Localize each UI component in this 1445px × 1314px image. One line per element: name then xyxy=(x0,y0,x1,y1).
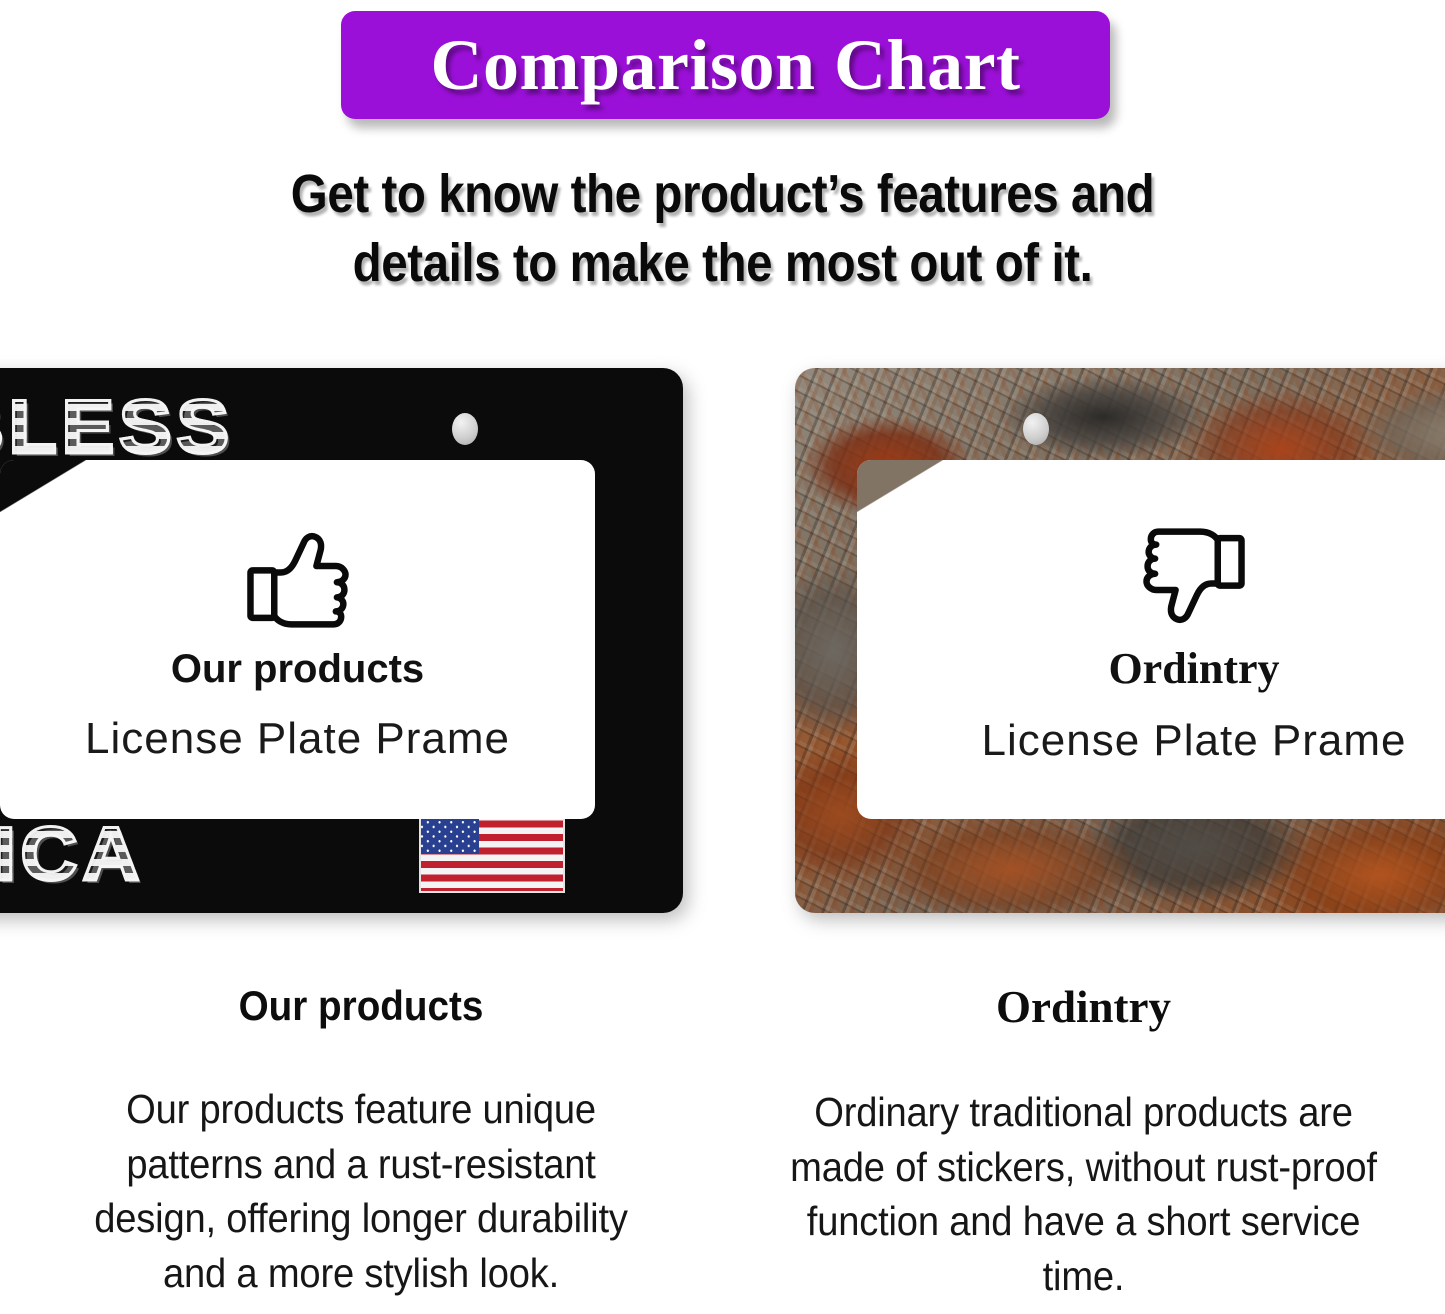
our-product-license-plate-frame: OD BLESS MERICA Our products License P xyxy=(0,368,683,913)
plate-subheading-right: License Plate Prame xyxy=(982,719,1407,763)
page-subtitle: Get to know the product’s features and d… xyxy=(87,160,1359,298)
frame-top-lettering: OD BLESS xyxy=(0,390,234,466)
column-body-our-products: Our products feature unique patterns and… xyxy=(61,1082,662,1300)
thumbs-up-icon xyxy=(244,529,352,629)
comparison-column-our-products: Our products Our products feature unique… xyxy=(0,985,722,1303)
frame-bottom-lettering: MERICA xyxy=(0,817,144,893)
plate-heading-our-products: Our products xyxy=(171,649,424,689)
mounting-hole xyxy=(452,413,478,445)
mounting-hole xyxy=(1023,413,1049,445)
page-title: Comparison Chart xyxy=(430,29,1020,101)
product-frames-area: OD BLESS MERICA Our products License P xyxy=(0,340,1445,940)
plate-heading-ordintry: Ordintry xyxy=(1108,647,1279,691)
comparison-columns: Our products Our products feature unique… xyxy=(0,985,1445,1303)
frame-black-body: OD BLESS MERICA Our products License P xyxy=(0,368,683,913)
frame-rusted-body: Ordintry License Plate Prame xyxy=(795,368,1445,913)
column-body-ordintry: Ordinary traditional products are made o… xyxy=(783,1085,1385,1303)
plate-content-left: Our products License Plate Prame xyxy=(0,460,595,819)
plate-subheading-left: License Plate Prame xyxy=(85,717,510,761)
comparison-chart-title-banner: Comparison Chart xyxy=(341,11,1110,119)
plate-content-right: Ordintry License Plate Prame xyxy=(857,460,1445,819)
thumbs-down-icon xyxy=(1140,527,1248,627)
license-plate-window-right: Ordintry License Plate Prame xyxy=(857,460,1445,819)
license-plate-window-left: Our products License Plate Prame xyxy=(0,460,595,819)
subtitle-line-1: Get to know the product’s features and xyxy=(87,160,1359,229)
subtitle-line-2: details to make the most out of it. xyxy=(87,229,1359,298)
comparison-column-ordintry: Ordintry Ordinary traditional products a… xyxy=(722,985,1445,1303)
column-heading-ordintry: Ordintry xyxy=(760,985,1407,1030)
column-heading-our-products: Our products xyxy=(64,985,658,1027)
ordinary-product-license-plate-frame: Ordintry License Plate Prame xyxy=(795,368,1445,913)
